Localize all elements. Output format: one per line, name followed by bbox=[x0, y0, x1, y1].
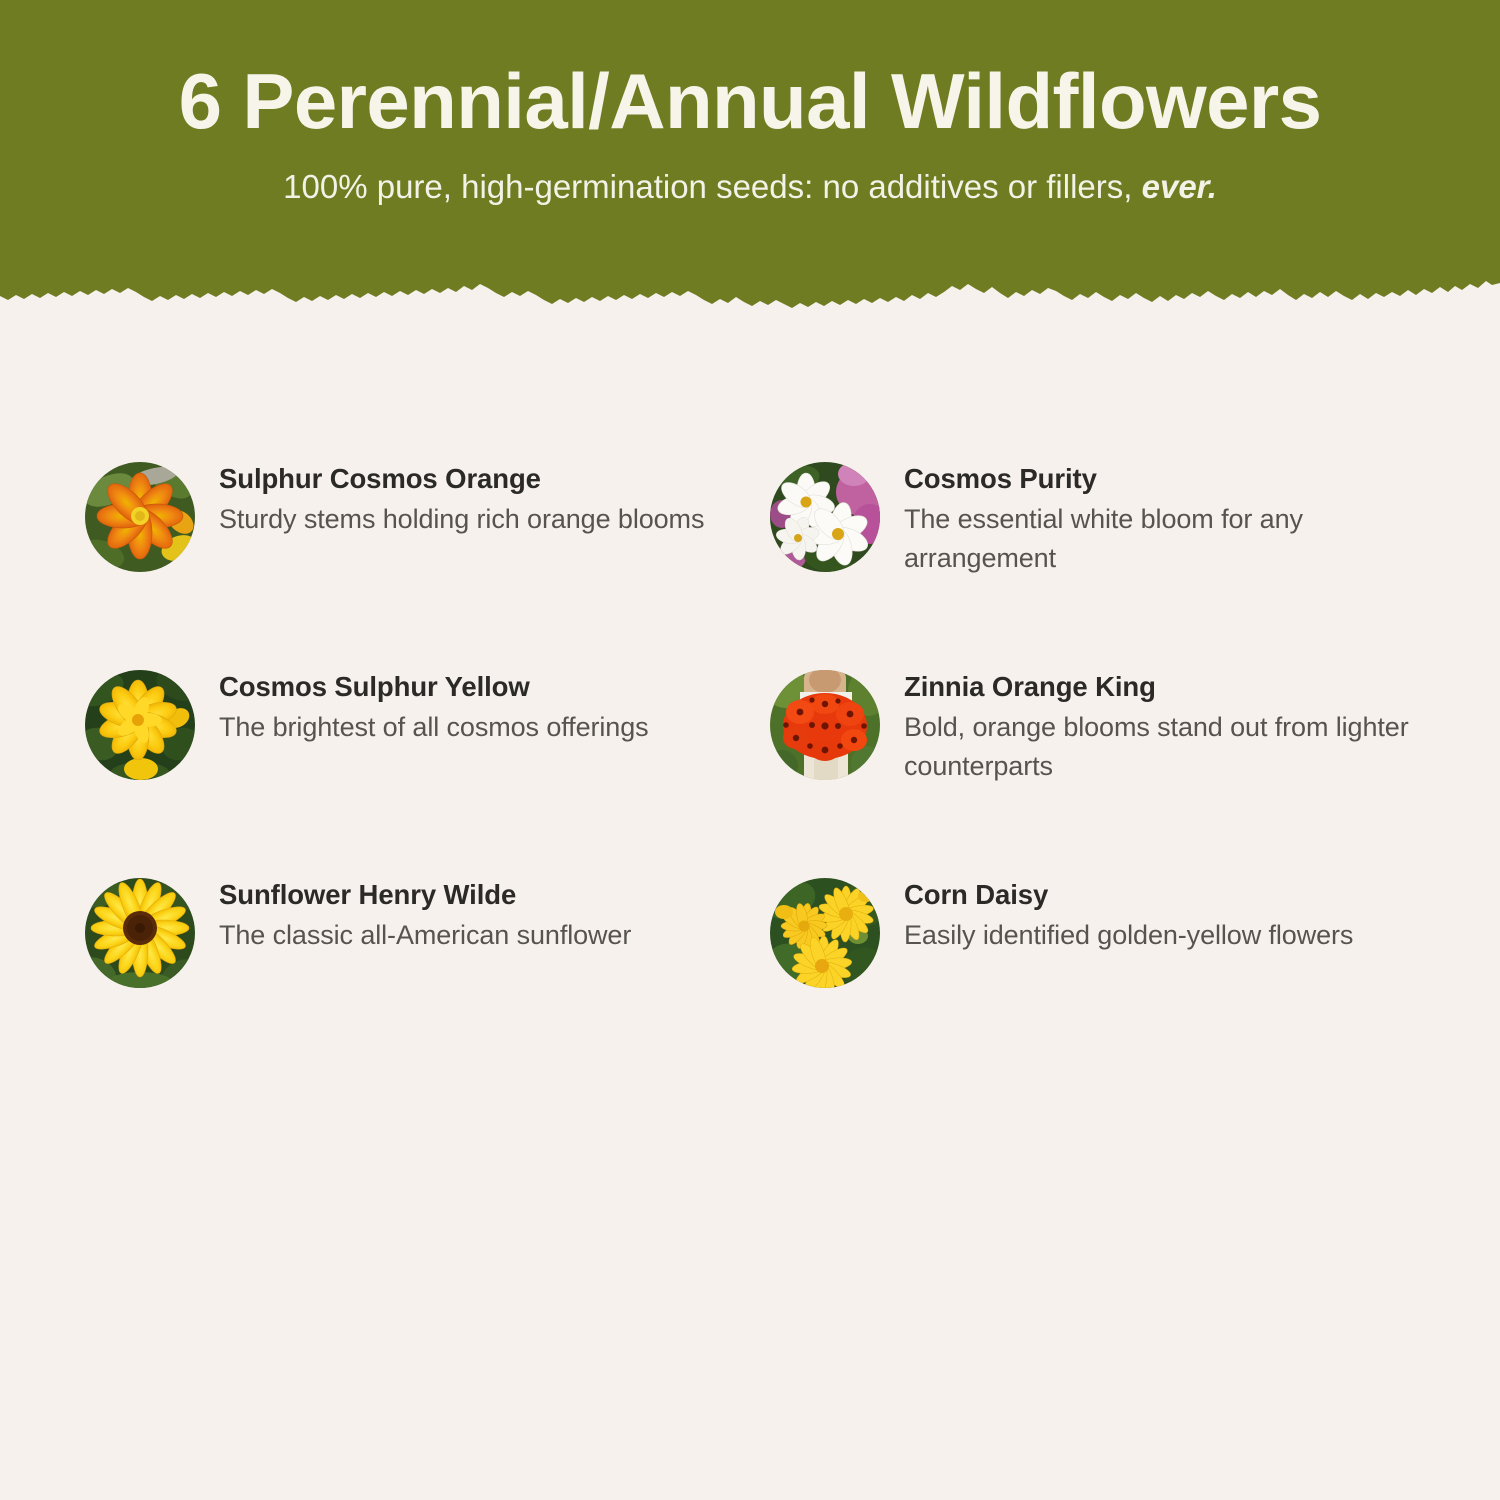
feature-name: Zinnia Orange King bbox=[904, 670, 1414, 704]
feature-description: The essential white bloom for any arrang… bbox=[904, 500, 1414, 577]
feature-item: Cosmos Purity The essential white bloom … bbox=[770, 440, 1455, 648]
page-subtitle-emphasis: ever. bbox=[1142, 168, 1217, 205]
orange-zinnia-bouquet-photo bbox=[770, 670, 880, 780]
yellow-cosmos-flower-photo bbox=[85, 670, 195, 780]
feature-name: Corn Daisy bbox=[904, 878, 1353, 912]
feature-name: Cosmos Sulphur Yellow bbox=[219, 670, 649, 704]
page-title: 6 Perennial/Annual Wildflowers bbox=[0, 62, 1500, 140]
feature-text-group: Sunflower Henry Wilde The classic all-Am… bbox=[219, 856, 631, 955]
feature-text-group: Sulphur Cosmos Orange Sturdy stems holdi… bbox=[219, 440, 704, 539]
golden-corn-daisy-photo bbox=[770, 878, 880, 988]
feature-description: Easily identified golden-yellow flowers bbox=[904, 916, 1353, 954]
header-banner: 6 Perennial/Annual Wildflowers 100% pure… bbox=[0, 0, 1500, 310]
feature-description: The classic all-American sunflower bbox=[219, 916, 631, 954]
header-text-group: 6 Perennial/Annual Wildflowers 100% pure… bbox=[0, 0, 1500, 207]
feature-text-group: Zinnia Orange King Bold, orange blooms s… bbox=[904, 648, 1414, 785]
yellow-sunflower-photo bbox=[85, 878, 195, 988]
feature-description: Bold, orange blooms stand out from light… bbox=[904, 708, 1414, 785]
wildflower-feature-grid: Sulphur Cosmos Orange Sturdy stems holdi… bbox=[0, 440, 1500, 1064]
feature-text-group: Corn Daisy Easily identified golden-yell… bbox=[904, 856, 1353, 955]
feature-description: Sturdy stems holding rich orange blooms bbox=[219, 500, 704, 538]
feature-name: Sunflower Henry Wilde bbox=[219, 878, 631, 912]
feature-description: The brightest of all cosmos offerings bbox=[219, 708, 649, 746]
page-subtitle: 100% pure, high-germination seeds: no ad… bbox=[0, 167, 1500, 207]
feature-name: Cosmos Purity bbox=[904, 462, 1414, 496]
feature-name: Sulphur Cosmos Orange bbox=[219, 462, 704, 496]
feature-text-group: Cosmos Sulphur Yellow The brightest of a… bbox=[219, 648, 649, 747]
feature-item: Sulphur Cosmos Orange Sturdy stems holdi… bbox=[85, 440, 770, 648]
page-subtitle-main: 100% pure, high-germination seeds: no ad… bbox=[283, 168, 1141, 205]
feature-item: Cosmos Sulphur Yellow The brightest of a… bbox=[85, 648, 770, 856]
feature-item: Sunflower Henry Wilde The classic all-Am… bbox=[85, 856, 770, 1064]
feature-item: Corn Daisy Easily identified golden-yell… bbox=[770, 856, 1455, 1064]
white-cosmos-flower-photo bbox=[770, 462, 880, 572]
feature-item: Zinnia Orange King Bold, orange blooms s… bbox=[770, 648, 1455, 856]
orange-cosmos-flower-photo bbox=[85, 462, 195, 572]
feature-text-group: Cosmos Purity The essential white bloom … bbox=[904, 440, 1414, 577]
